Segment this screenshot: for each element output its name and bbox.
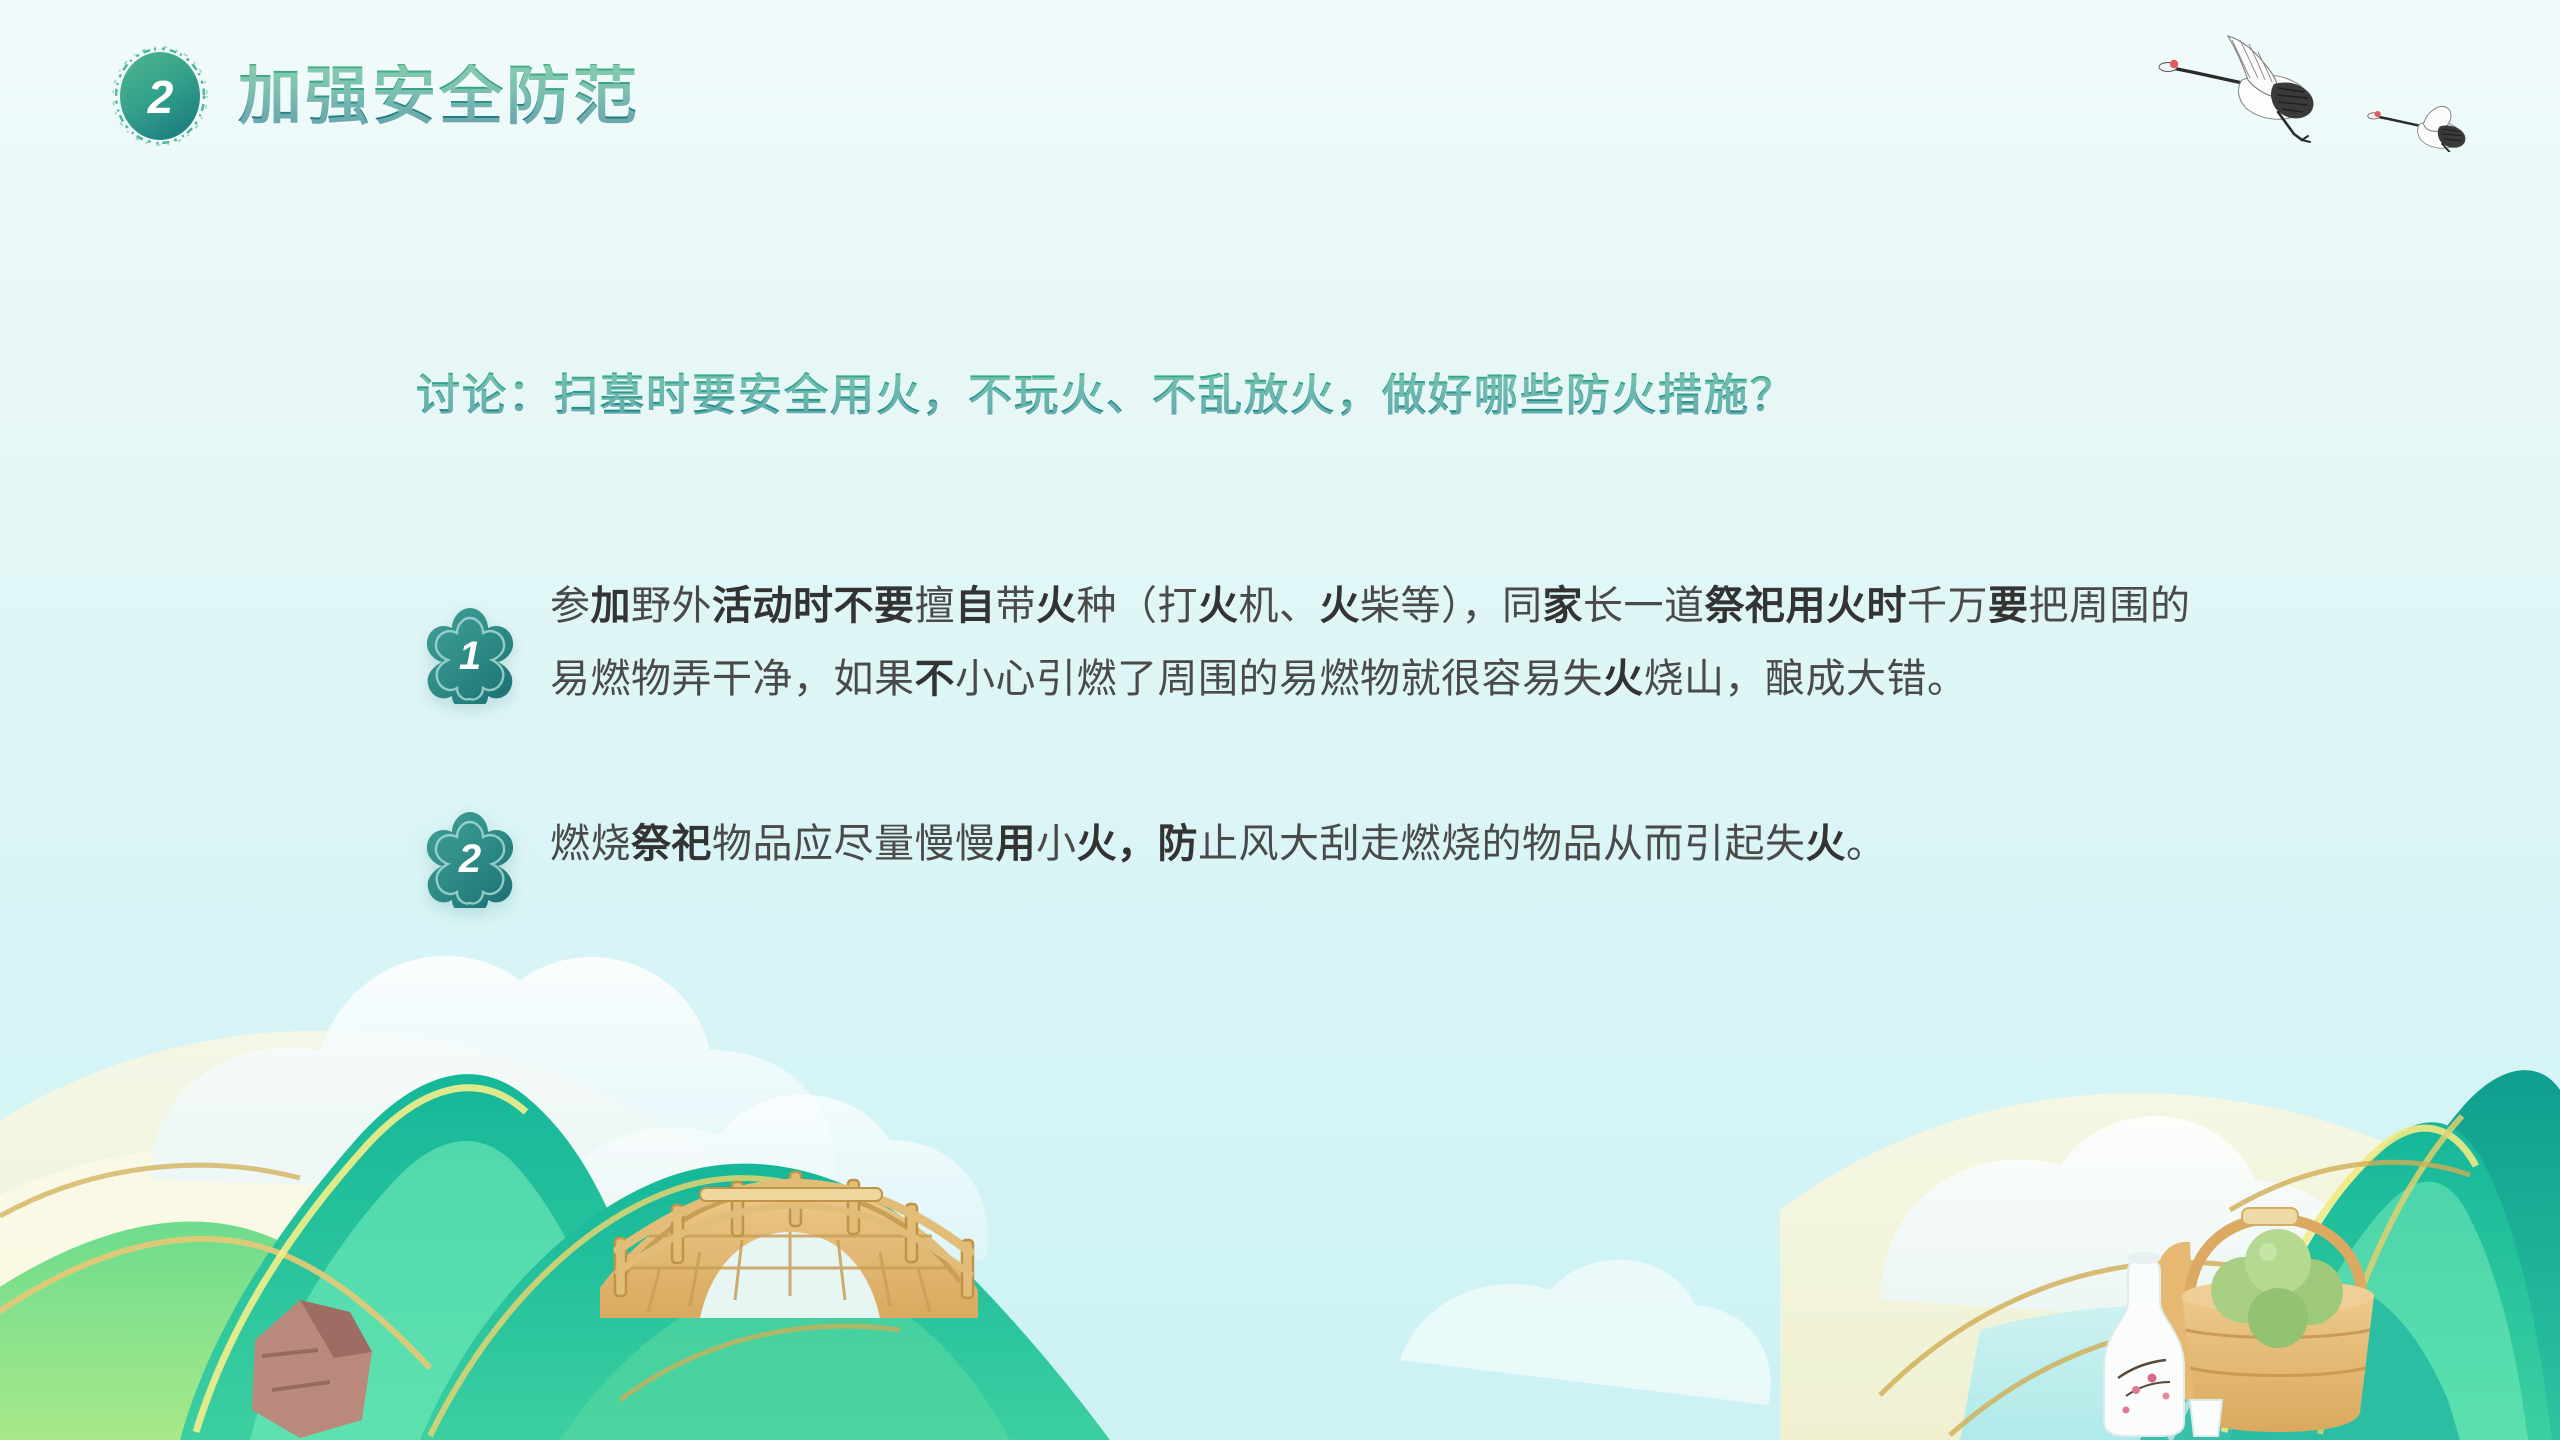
list-item: 2 燃烧祭祀物品应尽量慢慢用小火，防止风大刮走燃烧的物品从而引起失火。 燃烧祭祀… xyxy=(424,808,2224,908)
cloud-bands xyxy=(0,1031,2560,1440)
section-header: 2 加强安全防范 xyxy=(112,48,640,144)
point-number-badge-2: 2 xyxy=(424,810,516,908)
point-body-1: 参加野外活动时不要擅自带火种（打火机、火柴等），同家长一道祭祀用火时千万要把周围… xyxy=(550,570,2224,716)
water-band xyxy=(1960,1305,2560,1440)
point-body-2: 燃烧祭祀物品应尽量慢慢用小火，防止风大刮走燃烧的物品从而引起失火。 燃烧祭祀物品… xyxy=(550,808,2224,881)
qingtuan-basket-group xyxy=(2104,1208,2374,1436)
flying-cranes-illustration xyxy=(2152,22,2532,152)
discussion-question: 讨论：扫墓时要安全用火，不玩火、不乱放火，做好哪些防火措施？ xyxy=(416,368,1796,423)
page-title: 加强安全防范 xyxy=(238,64,640,128)
gold-flow-lines-left xyxy=(0,1165,900,1400)
point-number-badge-1: 1 xyxy=(424,606,516,704)
crane-small xyxy=(2368,106,2466,152)
list-item: 1 参加野外活动时不要擅自带火种（打火机、火柴等），同家长一道祭祀用火时千万要把… xyxy=(424,570,2224,716)
point-number-text: 1 xyxy=(424,607,516,705)
point-body-2-plain: 燃烧祭祀物品应尽量慢慢用小火，防止风大刮走燃烧的物品从而引起失火。 xyxy=(1887,808,1888,809)
point-body-1-plain: 参加野外活动时不要擅自带火种（打火机、火柴等），同家长一道祭祀用火时千万要把周围… xyxy=(1968,643,1969,644)
point-number-text: 2 xyxy=(424,811,516,909)
section-number-badge: 2 xyxy=(112,46,208,146)
slide-root: 2 加强安全防范 讨论：扫墓时要安全用火，不玩火、不乱放火，做好哪些防火措施？ xyxy=(0,0,2560,1440)
right-mountains xyxy=(2140,1070,2560,1440)
gold-flow-lines xyxy=(1880,1162,2470,1435)
stone-arch-bridge xyxy=(600,1172,978,1318)
crane-large xyxy=(2159,36,2313,142)
left-mountains xyxy=(0,1074,1110,1440)
white-clouds xyxy=(150,956,2365,1405)
points-list: 1 参加野外活动时不要擅自带火种（打火机、火柴等），同家长一道祭祀用火时千万要把… xyxy=(424,570,2224,908)
section-number-text: 2 xyxy=(112,47,208,147)
